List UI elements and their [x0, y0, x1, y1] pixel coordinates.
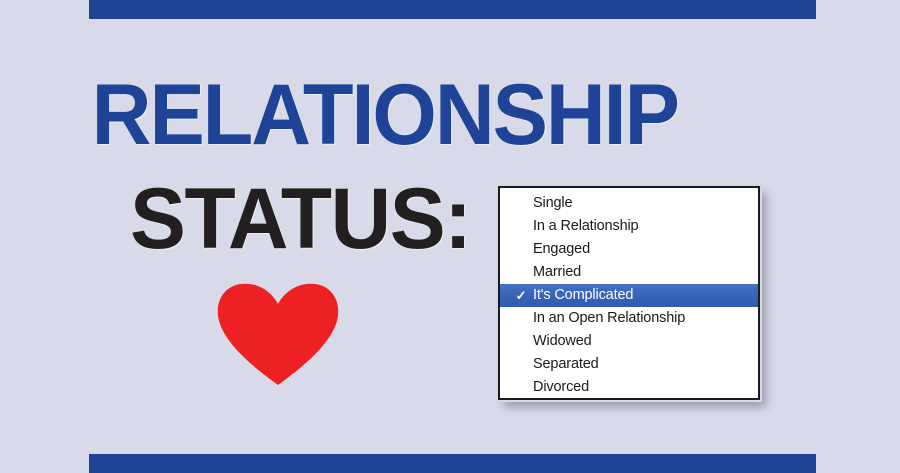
headline-line-2: STATUS:	[130, 176, 479, 262]
bottom-accent-bar	[89, 454, 816, 473]
headline-line-1-text: RELATIONSHIP	[92, 72, 678, 158]
dropdown-option[interactable]: ✓Engaged	[500, 238, 758, 261]
dropdown-option[interactable]: ✓Separated	[500, 353, 758, 376]
dropdown-option[interactable]: ✓In an Open Relationship	[500, 307, 758, 330]
dropdown-option-label: Separated	[533, 356, 599, 372]
dropdown-option[interactable]: ✓Divorced	[500, 376, 758, 399]
dropdown-option-label: Engaged	[533, 241, 590, 257]
check-icon: ✓	[513, 284, 529, 307]
headline-line-1: RELATIONSHIP	[0, 72, 900, 158]
dropdown-option-label: In a Relationship	[533, 218, 638, 234]
dropdown-option-label: Married	[533, 264, 581, 280]
dropdown-option[interactable]: ✓In a Relationship	[500, 215, 758, 238]
heart-icon	[216, 282, 340, 386]
dropdown-option-label: Divorced	[533, 379, 589, 395]
dropdown-option-label: Single	[533, 195, 572, 211]
dropdown-option[interactable]: ✓Widowed	[500, 330, 758, 353]
dropdown-option-label: It's Complicated	[533, 287, 633, 303]
dropdown-option-label: Widowed	[533, 333, 592, 349]
headline-line-2-text: STATUS:	[130, 176, 471, 262]
dropdown-option-label: In an Open Relationship	[533, 310, 685, 326]
dropdown-option[interactable]: ✓Single	[500, 192, 758, 215]
dropdown-option[interactable]: ✓Married	[500, 261, 758, 284]
dropdown-option[interactable]: ✓It's Complicated	[500, 284, 758, 307]
top-accent-bar	[89, 0, 816, 19]
relationship-status-dropdown[interactable]: ✓Single✓In a Relationship✓Engaged✓Marrie…	[498, 186, 760, 400]
meme-canvas: RELATIONSHIP STATUS: ✓Single✓In a Relati…	[0, 0, 900, 473]
